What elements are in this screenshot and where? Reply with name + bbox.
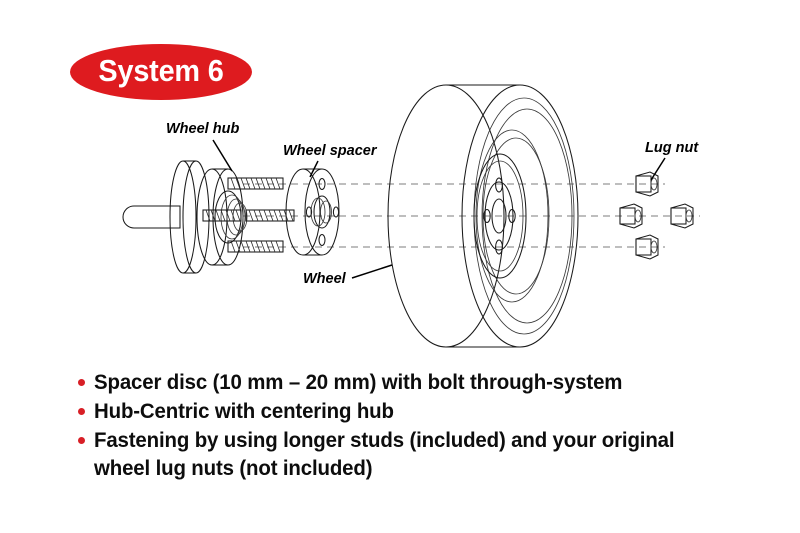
bullet-dot-icon	[78, 437, 85, 444]
feature-text: Fastening by using longer studs (include…	[94, 426, 674, 482]
list-item: Hub-Centric with centering hub	[78, 397, 768, 425]
list-item: Fastening by using longer studs (include…	[78, 426, 768, 482]
diagram-svg: Wheel hub Wheel spacer Wheel Lug nut	[0, 0, 800, 350]
lug-nut-label-text: Lug nut	[645, 140, 699, 156]
bullet-dot-icon	[78, 408, 85, 415]
list-item: Spacer disc (10 mm – 20 mm) with bolt th…	[78, 368, 768, 396]
exploded-diagram: Wheel hub Wheel spacer Wheel Lug nut	[0, 0, 800, 350]
bullet-dot-icon	[78, 379, 85, 386]
feature-text: Hub-Centric with centering hub	[94, 397, 394, 425]
wheel-hub-part	[123, 161, 294, 273]
wheel-spacer-label-text: Wheel spacer	[283, 143, 378, 159]
wheel-label-text: Wheel	[303, 271, 347, 287]
feature-list: Spacer disc (10 mm – 20 mm) with bolt th…	[78, 368, 768, 483]
label-wheel: Wheel	[303, 265, 392, 287]
label-wheel-hub: Wheel hub	[166, 121, 239, 171]
feature-text: Spacer disc (10 mm – 20 mm) with bolt th…	[94, 368, 622, 396]
wheel-hub-label-text: Wheel hub	[166, 121, 239, 137]
